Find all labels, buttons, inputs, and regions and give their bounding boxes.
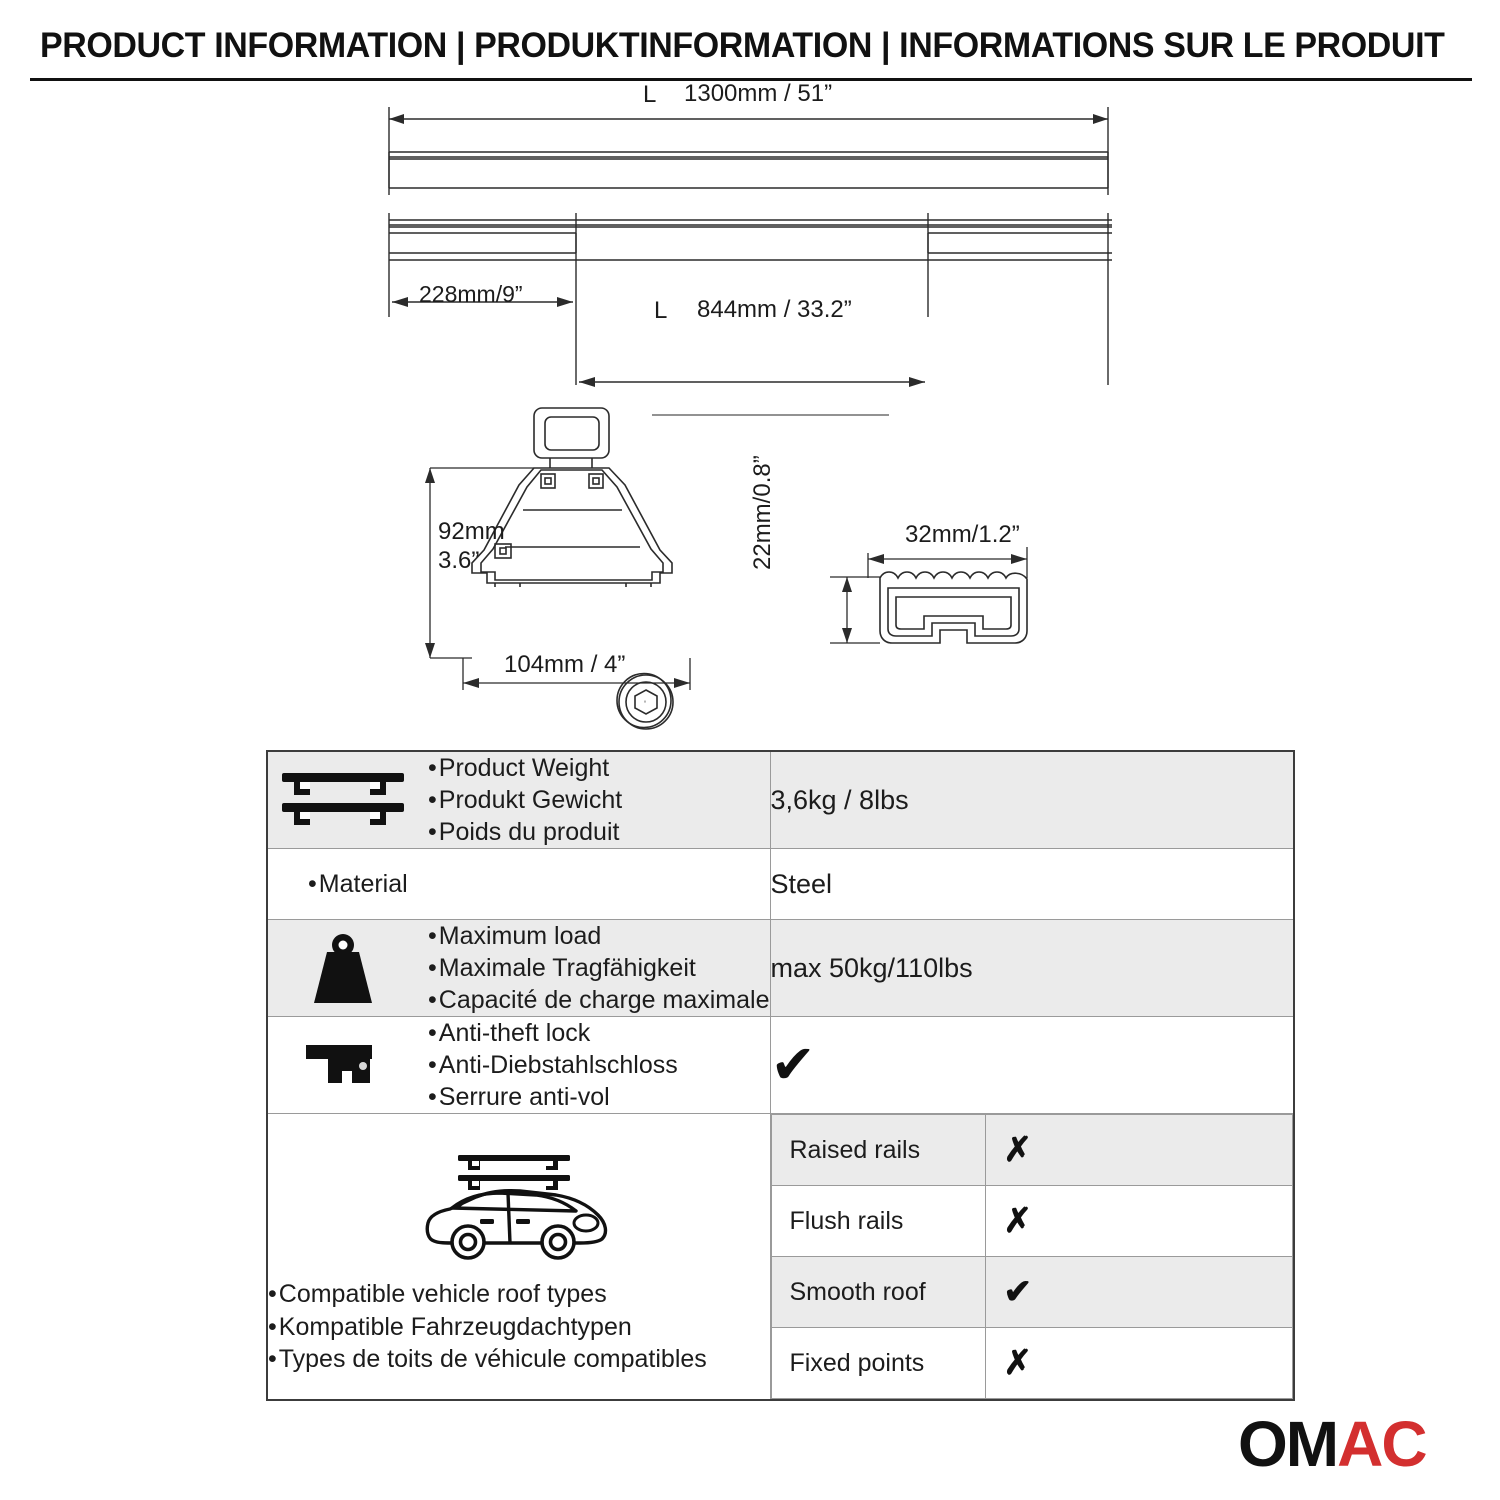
row-lock-labels: Anti-theft lock Anti-Diebstahlschloss Se…	[428, 1017, 678, 1113]
roof-options-table: Raised rails ✗ Flush rails ✗	[771, 1114, 1294, 1399]
roof-option-name: Fixed points	[771, 1328, 985, 1399]
row-roof-labels: Compatible vehicle roof types Kompatible…	[268, 1278, 770, 1376]
page-title: PRODUCT INFORMATION | PRODUKTINFORMATION…	[40, 26, 1427, 66]
label-de: Anti-Diebstahlschloss	[428, 1049, 678, 1081]
label-fr: Serrure anti-vol	[428, 1081, 678, 1113]
table-row-lock: Anti-theft lock Anti-Diebstahlschloss Se…	[267, 1017, 1294, 1114]
roof-option-row: Smooth roof ✔	[771, 1257, 1293, 1328]
roof-option-name: Raised rails	[771, 1115, 985, 1186]
label-en: Maximum load	[428, 920, 770, 952]
profile-height-value: 22mm/0.8”	[749, 455, 777, 570]
drawing-svg	[0, 85, 1500, 735]
profile-width-value: 32mm/1.2”	[905, 521, 1020, 549]
table-row-roof-types: Compatible vehicle roof types Kompatible…	[267, 1114, 1294, 1401]
mark-glyph: ✗	[1004, 1131, 1033, 1169]
row-weight-labels: Product Weight Produkt Gewicht Poids du …	[428, 752, 622, 848]
label-material: Material	[308, 868, 408, 900]
row-maxload-labels: Maximum load Maximale Tragfähigkeit Capa…	[428, 920, 770, 1016]
table-row-material: Material Steel	[267, 849, 1294, 920]
roof-option-mark: ✔	[985, 1257, 1293, 1328]
weight-icon	[268, 928, 418, 1008]
bar-length-value: 1300mm / 51”	[684, 80, 832, 108]
row-roof-label-cell: Compatible vehicle roof types Kompatible…	[267, 1114, 770, 1401]
bar-length-prefix: L	[643, 81, 656, 109]
label-de: Kompatible Fahrzeugdachtypen	[268, 1311, 770, 1344]
crossbars-icon	[268, 769, 418, 831]
foot-height-line1: 92mm	[438, 518, 505, 546]
roof-option-mark: ✗	[985, 1328, 1293, 1399]
roof-option-row: Fixed points ✗	[771, 1328, 1293, 1399]
logo-text-red: AC	[1337, 1408, 1425, 1480]
row-weight-label-cell: Product Weight Produkt Gewicht Poids du …	[267, 751, 770, 849]
roof-option-mark: ✗	[985, 1186, 1293, 1257]
table-row-weight: Product Weight Produkt Gewicht Poids du …	[267, 751, 1294, 849]
mark-glyph: ✗	[1004, 1202, 1033, 1240]
lock-icon	[268, 1037, 418, 1093]
omac-logo: OMAC	[1238, 1412, 1426, 1476]
row-material-label-cell: Material	[267, 849, 770, 920]
roof-option-name: Smooth roof	[771, 1257, 985, 1328]
roof-option-name: Flush rails	[771, 1186, 985, 1257]
logo-text-black: OM	[1238, 1408, 1337, 1480]
label-de: Produkt Gewicht	[428, 784, 622, 816]
lock-check-mark: ✔	[771, 1035, 816, 1095]
roof-option-row: Flush rails ✗	[771, 1186, 1293, 1257]
label-en: Anti-theft lock	[428, 1017, 678, 1049]
row-lock-value: ✔	[770, 1017, 1294, 1114]
car-with-roofrack-icon	[268, 1141, 770, 1266]
foot-offset-value: 228mm/9”	[419, 281, 523, 308]
row-lock-label-cell: Anti-theft lock Anti-Diebstahlschloss Se…	[267, 1017, 770, 1114]
mark-glyph: ✔	[1004, 1273, 1033, 1311]
table-row-maxload: Maximum load Maximale Tragfähigkeit Capa…	[267, 920, 1294, 1017]
label-fr: Types de toits de véhicule compatibles	[268, 1343, 770, 1376]
label-fr: Capacité de charge maximale	[428, 984, 770, 1016]
row-weight-value: 3,6kg / 8lbs	[770, 751, 1294, 849]
label-en: Product Weight	[428, 752, 622, 784]
label-fr: Poids du produit	[428, 816, 622, 848]
label-en: Compatible vehicle roof types	[268, 1278, 770, 1311]
row-maxload-label-cell: Maximum load Maximale Tragfähigkeit Capa…	[267, 920, 770, 1017]
roof-option-mark: ✗	[985, 1115, 1293, 1186]
roof-options-cell: Raised rails ✗ Flush rails ✗	[770, 1114, 1294, 1401]
label-de: Maximale Tragfähigkeit	[428, 952, 770, 984]
foot-height-line2: 3.6”	[438, 547, 479, 575]
span-prefix: L	[654, 297, 667, 325]
row-material-value: Steel	[770, 849, 1294, 920]
row-maxload-value: max 50kg/110lbs	[770, 920, 1294, 1017]
mark-glyph: ✗	[1004, 1344, 1033, 1382]
specification-table: Product Weight Produkt Gewicht Poids du …	[266, 750, 1295, 1401]
technical-drawings: L 1300mm / 51” 228mm/9” L 844mm / 33.2” …	[0, 85, 1500, 735]
span-value: 844mm / 33.2”	[697, 296, 852, 324]
roof-option-row: Raised rails ✗	[771, 1115, 1293, 1186]
foot-width-value: 104mm / 4”	[504, 651, 625, 679]
